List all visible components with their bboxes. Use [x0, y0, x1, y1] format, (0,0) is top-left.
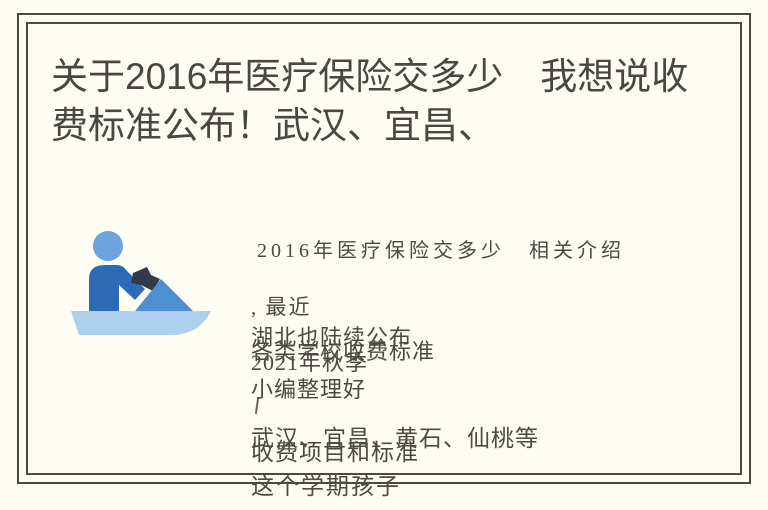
body-lead-line: 2016年医疗保险交多少 相关介绍	[257, 234, 625, 263]
page-title: 关于2016年医疗保险交多少 我想说收费标准公布！武汉、宜昌、	[51, 52, 721, 150]
body-line-8: 这个学期孩子	[251, 467, 401, 501]
illustration-head	[93, 231, 123, 261]
card-content: 关于2016年医疗保险交多少 我想说收费标准公布！武汉、宜昌、 2016年医疗保…	[26, 22, 742, 475]
body-line-5: 小编整理好	[251, 372, 366, 404]
illustration-foreground-shape	[71, 311, 211, 335]
person-at-desk-illustration	[61, 217, 221, 342]
article-card: 关于2016年医疗保险交多少 我想说收费标准公布！武汉、宜昌、 2016年医疗保…	[0, 0, 768, 510]
article-body-text: 2016年医疗保险交多少 相关介绍 , 最近 湖北也陆续公布 各类学校收费标准 …	[229, 212, 729, 472]
body-line-7: 收费项目和标准	[251, 433, 419, 467]
body-line-1: , 最近	[251, 291, 312, 321]
